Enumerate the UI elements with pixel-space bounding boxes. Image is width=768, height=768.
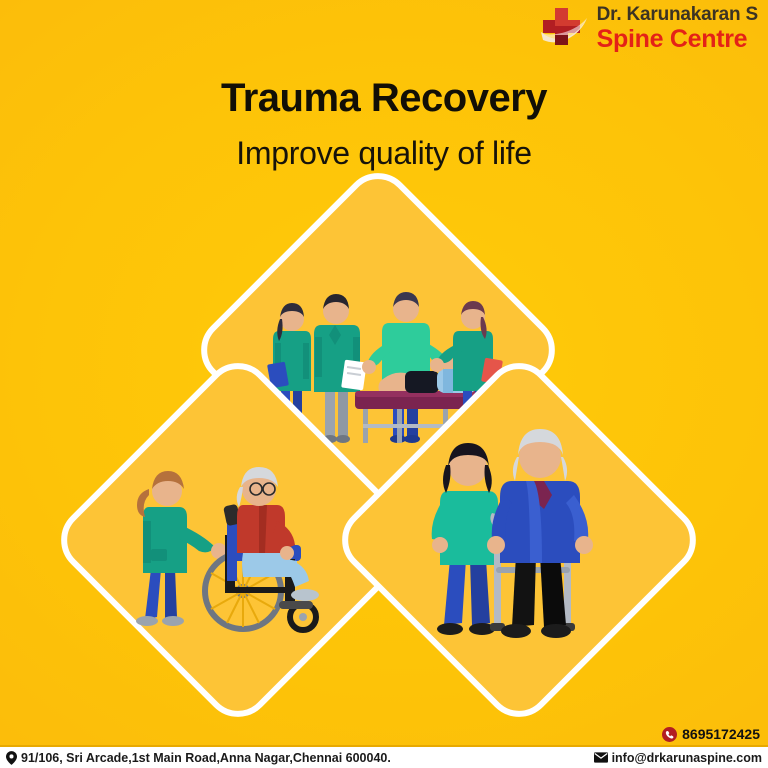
address-text: 91/106, Sri Arcade,1st Main Road,Anna Na… <box>21 751 391 765</box>
brand-name-line1: Dr. Karunakaran S <box>597 5 758 24</box>
contact-email[interactable]: info@drkarunaspine.com <box>594 751 762 765</box>
page-subtitle: Improve quality of life <box>0 135 768 172</box>
brand-name: Dr. Karunakaran S Spine Centre <box>597 5 758 52</box>
brand-logo: Dr. Karunakaran S Spine Centre <box>537 4 758 52</box>
illustration-right-scene <box>390 411 648 669</box>
medical-cross-swoosh-icon <box>537 4 589 52</box>
figure-elderly-man-with-walker <box>487 429 593 638</box>
envelope-icon <box>594 752 608 763</box>
email-text: info@drkarunaspine.com <box>612 751 762 765</box>
poster-canvas: Dr. Karunakaran S Spine Centre Trauma Re… <box>0 0 768 768</box>
page-title: Trauma Recovery <box>0 76 768 121</box>
illustration-left-scene <box>109 411 367 669</box>
contact-phone[interactable]: 8695172425 <box>662 726 760 742</box>
phone-icon <box>662 727 677 742</box>
brand-name-line2: Spine Centre <box>597 27 758 52</box>
footer-contact-bar: 91/106, Sri Arcade,1st Main Road,Anna Na… <box>0 745 768 768</box>
location-pin-icon <box>6 751 17 765</box>
phone-number: 8695172425 <box>682 726 760 742</box>
headline-block: Trauma Recovery Improve quality of life <box>0 76 768 172</box>
contact-address[interactable]: 91/106, Sri Arcade,1st Main Road,Anna Na… <box>6 751 391 765</box>
figure-nurse-pushing-wheelchair <box>136 471 227 626</box>
